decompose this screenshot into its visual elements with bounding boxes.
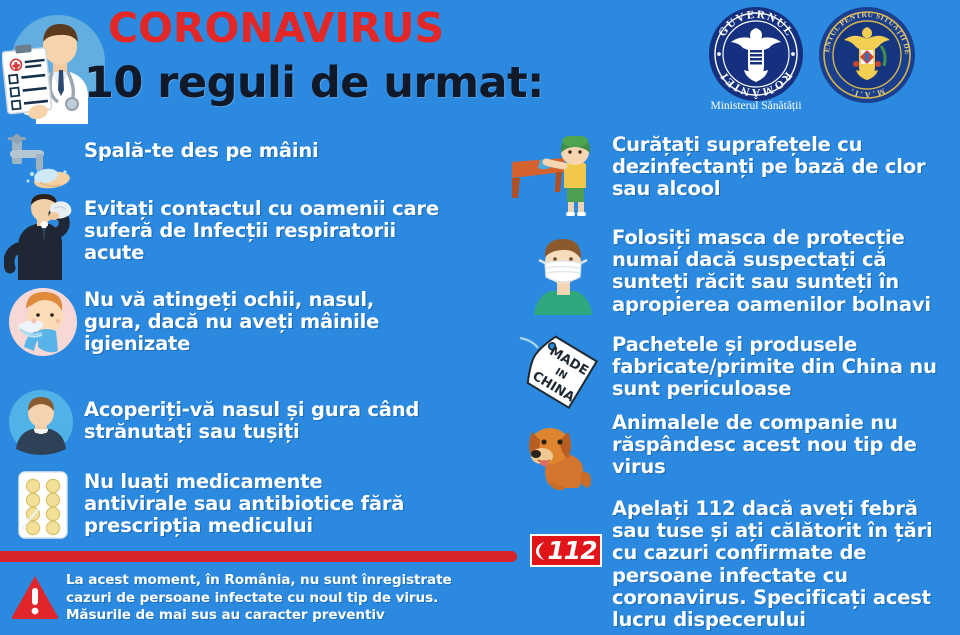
rule-item: Curățați suprafețele cu dezinfectanți pe… <box>512 130 960 227</box>
rule-item: Folosiți masca de protecție numai dacă s… <box>512 227 960 332</box>
emergency-situations-department-seal: DEPARTAMENTUL PENTRU SITUAȚII DE URGENȚĂ… <box>818 6 916 109</box>
poster-header: CORONAVIRUS 10 reguli de urmat: GUVERNUL <box>0 0 960 125</box>
emergency-112-badge: 112 <box>530 534 602 567</box>
coronavirus-infographic-poster: CORONAVIRUS 10 reguli de urmat: GUVERNUL <box>0 0 960 635</box>
person-avatar-icon <box>8 389 74 455</box>
rule-item: Acoperiți-vă nasul și gura când strănuta… <box>0 387 500 465</box>
puppy-dog-icon <box>524 414 594 490</box>
footer-warning-text: La acest moment, în România, nu sunt înr… <box>66 572 452 625</box>
rule-text: Animalele de companie nu răspândesc aces… <box>612 412 960 479</box>
boy-cleaning-table-icon <box>512 136 608 216</box>
rule-text: Evitați contactul cu oamenii care suferă… <box>84 192 500 265</box>
ministry-caption: Ministerul Sănătății <box>696 100 816 112</box>
rule-item: Animalele de companie nu răspândesc aces… <box>512 412 960 498</box>
phone-receiver-icon <box>535 541 546 561</box>
faucet-handwash-icon <box>6 134 80 192</box>
rule-text: Acoperiți-vă nasul și gura când strănuta… <box>84 387 500 443</box>
rule-item: Nu vă atingeți ochii, nasul, gura, dacă … <box>0 287 500 387</box>
rule-text: Spală-te des pe mâini <box>84 130 500 162</box>
page-subtitle: 10 reguli de urmat: <box>84 58 544 108</box>
rule-item: 112 Apelați 112 dacă aveți febră sau tus… <box>512 498 960 630</box>
rule-item: MADE IN CHINA Pachetele și produsele fab… <box>512 332 960 412</box>
red-divider-bar <box>0 551 517 562</box>
rule-item: Spală-te des pe mâini <box>0 130 500 192</box>
rule-item: Nu luați medicamente antivirale sau anti… <box>0 465 500 549</box>
rules-left-column: Spală-te des pe mâini <box>0 130 500 549</box>
page-title: CORONAVIRUS <box>108 4 444 52</box>
person-wearing-mask-icon <box>530 229 598 315</box>
rule-text: Folosiți masca de protecție numai dacă s… <box>612 227 960 316</box>
rules-right-column: Curățați suprafețele cu dezinfectanți pe… <box>512 130 960 630</box>
government-of-romania-seal: GUVERNUL ROMÂNIEI <box>708 6 804 107</box>
badge-number: 112 <box>547 536 596 565</box>
official-logos: GUVERNUL ROMÂNIEI <box>696 4 946 122</box>
rule-text: Apelați 112 dacă aveți febră sau tuse și… <box>612 498 960 631</box>
rule-text: Nu luați medicamente antivirale sau anti… <box>84 465 500 538</box>
footer-warning-note: La acest moment, în România, nu sunt înr… <box>8 570 518 632</box>
rule-item: Evitați contactul cu oamenii care suferă… <box>0 192 500 287</box>
rule-text: Curățați suprafețele cu dezinfectanți pe… <box>612 130 960 201</box>
rule-text: Nu vă atingeți ochii, nasul, gura, dacă … <box>84 287 500 356</box>
rule-text: Pachetele și produsele fabricate/primite… <box>612 332 960 401</box>
man-coughing-icon <box>4 192 78 280</box>
made-in-china-tag-icon: MADE IN CHINA <box>516 332 602 410</box>
pill-blister-pack-icon <box>16 469 70 541</box>
boy-sneezing-tissue-icon <box>8 287 78 357</box>
warning-triangle-icon <box>10 574 60 625</box>
